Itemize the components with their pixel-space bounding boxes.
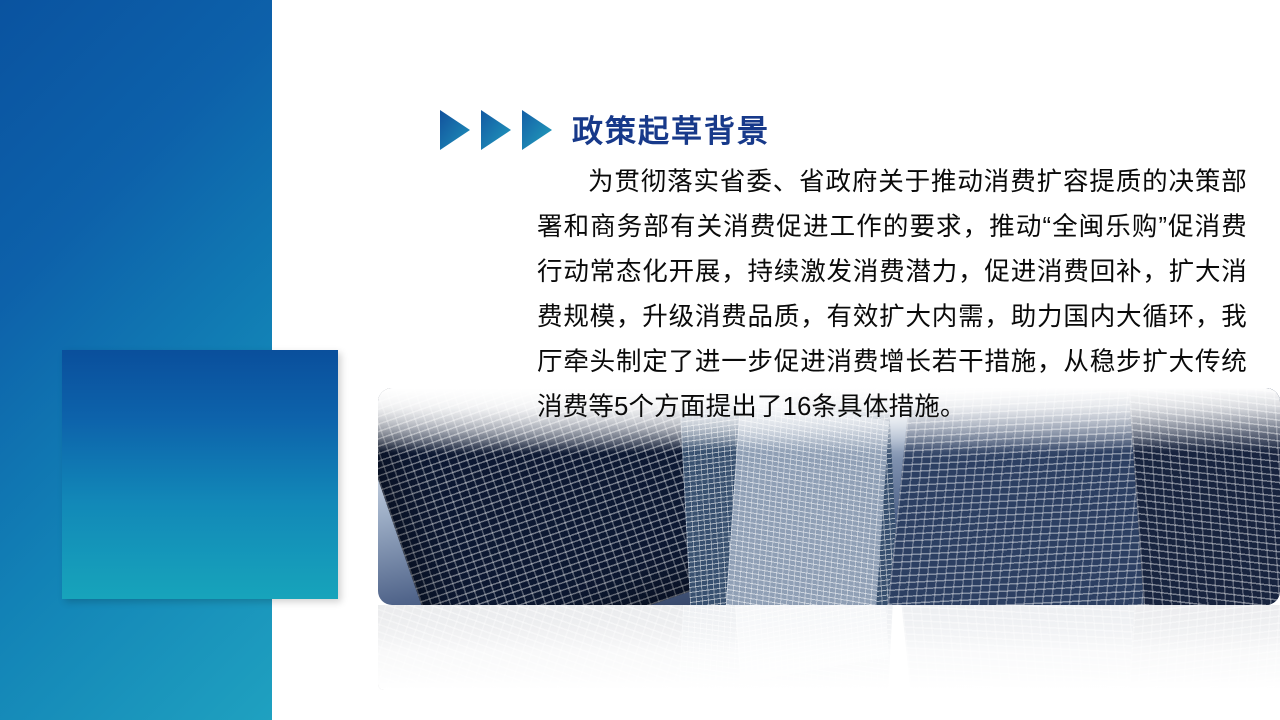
body-paragraph: 为贯彻落实省委、省政府关于推动消费扩容提质的决策部署和商务部有关消费促进工作的要… <box>537 160 1247 430</box>
triangle-arrow-2-icon <box>479 108 513 152</box>
photo-reflection <box>378 605 1280 690</box>
section-heading: 政策起草背景 <box>438 104 770 152</box>
triangle-arrow-3-icon <box>520 108 554 152</box>
heading-title: 政策起草背景 <box>572 106 770 151</box>
accent-rectangle <box>62 350 338 599</box>
triangle-arrow-group <box>438 108 554 152</box>
triangle-arrow-1-icon <box>438 108 472 152</box>
photo-reflection-veil <box>378 605 1280 690</box>
slide-canvas: 政策起草背景 为贯彻落实省委、省政府关于推动消费扩容提质的决策部署和商务部有关消… <box>0 0 1280 720</box>
office-towers-photo <box>378 388 1280 690</box>
